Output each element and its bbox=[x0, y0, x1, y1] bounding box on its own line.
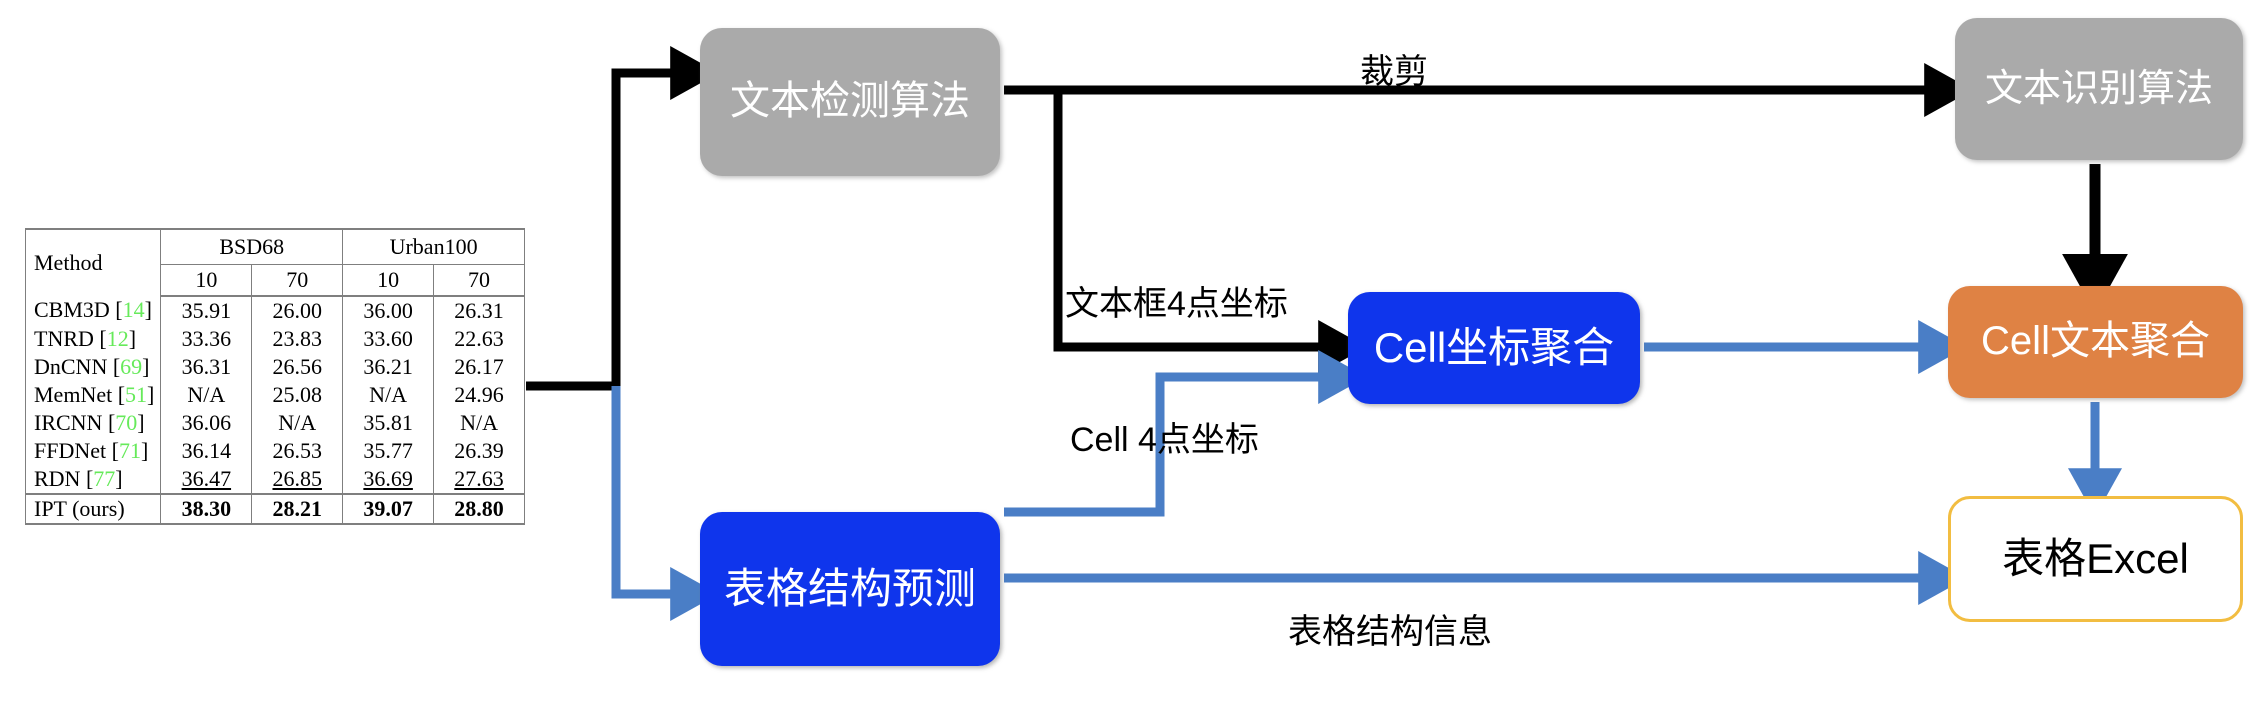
table-subheader-urban100-10: 10 bbox=[343, 265, 434, 297]
table-header-group-urban100: Urban100 bbox=[343, 229, 525, 265]
table-citation-ref: 71 bbox=[119, 438, 141, 463]
table-cell-value: 36.47 bbox=[161, 465, 252, 494]
edge-label-textbox-4point-coords: 文本框4点坐标 bbox=[1065, 276, 1288, 325]
table-cell-value: 26.85 bbox=[252, 465, 343, 494]
table-cell-method: FFDNet [71] bbox=[26, 437, 161, 465]
table-cell-value: N/A bbox=[434, 409, 525, 437]
edge-label-table-structure-info: 表格结构信息 bbox=[1288, 604, 1492, 653]
table-cell-method: DnCNN [69] bbox=[26, 353, 161, 381]
table-citation-ref: 51 bbox=[125, 382, 147, 407]
node-cell-coordinate-aggregation[interactable]: Cell坐标聚合 bbox=[1348, 292, 1640, 404]
table-cell-method: IPT (ours) bbox=[26, 494, 161, 524]
table-citation-ref: 14 bbox=[123, 297, 145, 322]
table-cell-value: 35.81 bbox=[343, 409, 434, 437]
table-cell-method: RDN [77] bbox=[26, 465, 161, 494]
table-cell-value: 39.07 bbox=[343, 494, 434, 524]
table-cell-method: CBM3D [14] bbox=[26, 296, 161, 325]
table-cell-value: 24.96 bbox=[434, 381, 525, 409]
node-table-excel-output[interactable]: 表格Excel bbox=[1948, 496, 2243, 622]
table-cell-value: 28.80 bbox=[434, 494, 525, 524]
table-cell-value: 28.21 bbox=[252, 494, 343, 524]
node-text-detection-label: 文本检测算法 bbox=[720, 78, 980, 125]
table-cell-value: 36.00 bbox=[343, 296, 434, 325]
node-text-detection-algorithm[interactable]: 文本检测算法 bbox=[700, 28, 1000, 176]
table-cell-value: 25.08 bbox=[252, 381, 343, 409]
table-cell-value: 27.63 bbox=[434, 465, 525, 494]
node-text-recognition-label: 文本识别算法 bbox=[1975, 67, 2223, 112]
table-cell-value: 26.17 bbox=[434, 353, 525, 381]
table-cell-value: 26.31 bbox=[434, 296, 525, 325]
table-cell-value: 36.06 bbox=[161, 409, 252, 437]
table-body: CBM3D [14]35.9126.0036.0026.31TNRD [12]3… bbox=[26, 296, 525, 524]
edge-label-crop: 裁剪 bbox=[1360, 44, 1428, 93]
table-row: CBM3D [14]35.9126.0036.0026.31 bbox=[26, 296, 525, 325]
node-table-structure-prediction[interactable]: 表格结构预测 bbox=[700, 512, 1000, 666]
table-citation-ref: 77 bbox=[93, 466, 115, 491]
table-row: TNRD [12]33.3623.8333.6022.63 bbox=[26, 325, 525, 353]
table-row: DnCNN [69]36.3126.5636.2126.17 bbox=[26, 353, 525, 381]
table-header-row-groups: Method BSD68 Urban100 bbox=[26, 229, 525, 265]
table-cell-value: 35.91 bbox=[161, 296, 252, 325]
table-cell-value: 33.36 bbox=[161, 325, 252, 353]
node-text-recognition-algorithm[interactable]: 文本识别算法 bbox=[1955, 18, 2243, 160]
table-cell-value: 26.00 bbox=[252, 296, 343, 325]
table-cell-value: 38.30 bbox=[161, 494, 252, 524]
table-cell-value: 36.21 bbox=[343, 353, 434, 381]
table-row: RDN [77]36.4726.8536.6927.63 bbox=[26, 465, 525, 494]
table-row-ours: IPT (ours)38.3028.2139.0728.80 bbox=[26, 494, 525, 524]
diagram-canvas: Method BSD68 Urban100 10 70 10 70 CBM3D … bbox=[0, 0, 2256, 704]
table-subheader-bsd68-10: 10 bbox=[161, 265, 252, 297]
table-subheader-urban100-70: 70 bbox=[434, 265, 525, 297]
table-subheader-bsd68-70: 70 bbox=[252, 265, 343, 297]
table-cell-method: IRCNN [70] bbox=[26, 409, 161, 437]
table-row: FFDNet [71]36.1426.5335.7726.39 bbox=[26, 437, 525, 465]
edge-input-to-text-detect bbox=[526, 73, 690, 386]
table-header-method: Method bbox=[26, 229, 161, 296]
table-cell-value: 33.60 bbox=[343, 325, 434, 353]
table-cell-value: 26.56 bbox=[252, 353, 343, 381]
table-citation-ref: 12 bbox=[107, 326, 129, 351]
table-cell-value: 36.31 bbox=[161, 353, 252, 381]
edge-input-to-table-struct bbox=[616, 386, 690, 594]
table-cell-value: N/A bbox=[252, 409, 343, 437]
table-cell-value: 26.39 bbox=[434, 437, 525, 465]
table-cell-method: MemNet [51] bbox=[26, 381, 161, 409]
table-cell-value: 23.83 bbox=[252, 325, 343, 353]
table-cell-value: N/A bbox=[161, 381, 252, 409]
table-cell-value: 22.63 bbox=[434, 325, 525, 353]
table-cell-value: 26.53 bbox=[252, 437, 343, 465]
table-citation-ref: 70 bbox=[115, 410, 137, 435]
node-cell-coordinate-label: Cell坐标聚合 bbox=[1364, 323, 1624, 373]
node-cell-text-aggregation[interactable]: Cell文本聚合 bbox=[1948, 286, 2243, 398]
node-cell-text-label: Cell文本聚合 bbox=[1971, 318, 2220, 365]
table-head: Method BSD68 Urban100 10 70 10 70 bbox=[26, 229, 525, 296]
table-cell-value: N/A bbox=[343, 381, 434, 409]
table-header-group-bsd68: BSD68 bbox=[161, 229, 343, 265]
table-cell-value: 35.77 bbox=[343, 437, 434, 465]
results-table: Method BSD68 Urban100 10 70 10 70 CBM3D … bbox=[25, 228, 525, 525]
edge-label-cell-4point-coords: Cell 4点坐标 bbox=[1070, 412, 1259, 461]
node-table-excel-label: 表格Excel bbox=[1992, 534, 2199, 584]
table-citation-ref: 69 bbox=[120, 354, 142, 379]
table-cell-value: 36.14 bbox=[161, 437, 252, 465]
node-table-structure-label: 表格结构预测 bbox=[714, 564, 986, 614]
table-row: MemNet [51]N/A25.08N/A24.96 bbox=[26, 381, 525, 409]
table-cell-method: TNRD [12] bbox=[26, 325, 161, 353]
table-cell-value: 36.69 bbox=[343, 465, 434, 494]
table-row: IRCNN [70]36.06N/A35.81N/A bbox=[26, 409, 525, 437]
